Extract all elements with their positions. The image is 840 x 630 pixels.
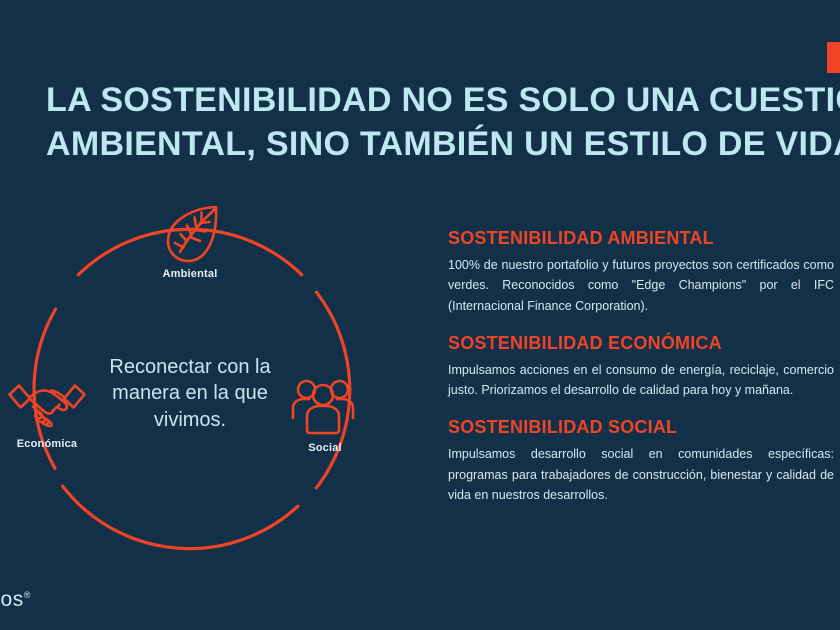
pillar-heading-social: SOSTENIBILIDAD SOCIAL (448, 417, 834, 438)
brand-logo-text: ollos (0, 588, 24, 611)
node-label-ambiental: Ambiental (115, 268, 265, 280)
pillar-body-economica: Impulsamos acciones en el consumo de ene… (448, 360, 834, 401)
pillar-heading-economica: SOSTENIBILIDAD ECONÓMICA (448, 333, 834, 354)
node-label-economica: Económica (0, 438, 122, 450)
pillar-block-social: SOSTENIBILIDAD SOCIAL Impulsamos desarro… (448, 417, 834, 505)
pillar-block-economica: SOSTENIBILIDAD ECONÓMICA Impulsamos acci… (448, 333, 834, 401)
registered-mark: ® (24, 590, 31, 600)
diagram-center-text: Reconectar con la manera en la que vivim… (95, 354, 285, 433)
slide-root: LA SOSTENIBILIDAD NO ES SOLO UNA CUESTIÓ… (0, 0, 840, 630)
arc-social-to-economica (63, 486, 298, 548)
sustainability-circle-diagram: Ambiental Económica Social Reconectar co… (0, 196, 420, 576)
sustainability-pillars-list: SOSTENIBILIDAD AMBIENTAL 100% de nuestro… (448, 228, 834, 522)
pillar-block-ambiental: SOSTENIBILIDAD AMBIENTAL 100% de nuestro… (448, 228, 834, 316)
pillar-body-social: Impulsamos desarrollo social en comunida… (448, 444, 834, 505)
corner-accent-mark (827, 42, 840, 73)
pillar-body-ambiental: 100% de nuestro portafolio y futuros pro… (448, 255, 834, 316)
page-title: LA SOSTENIBILIDAD NO ES SOLO UNA CUESTIÓ… (46, 78, 806, 167)
title-line-2: AMBIENTAL, SINO TAMBIÉN UN ESTILO DE VID… (46, 122, 806, 167)
pillar-heading-ambiental: SOSTENIBILIDAD AMBIENTAL (448, 228, 834, 249)
node-label-social: Social (250, 442, 400, 454)
brand-logo: ollos® (0, 588, 31, 612)
title-line-1: LA SOSTENIBILIDAD NO ES SOLO UNA CUESTIÓ… (46, 78, 806, 123)
